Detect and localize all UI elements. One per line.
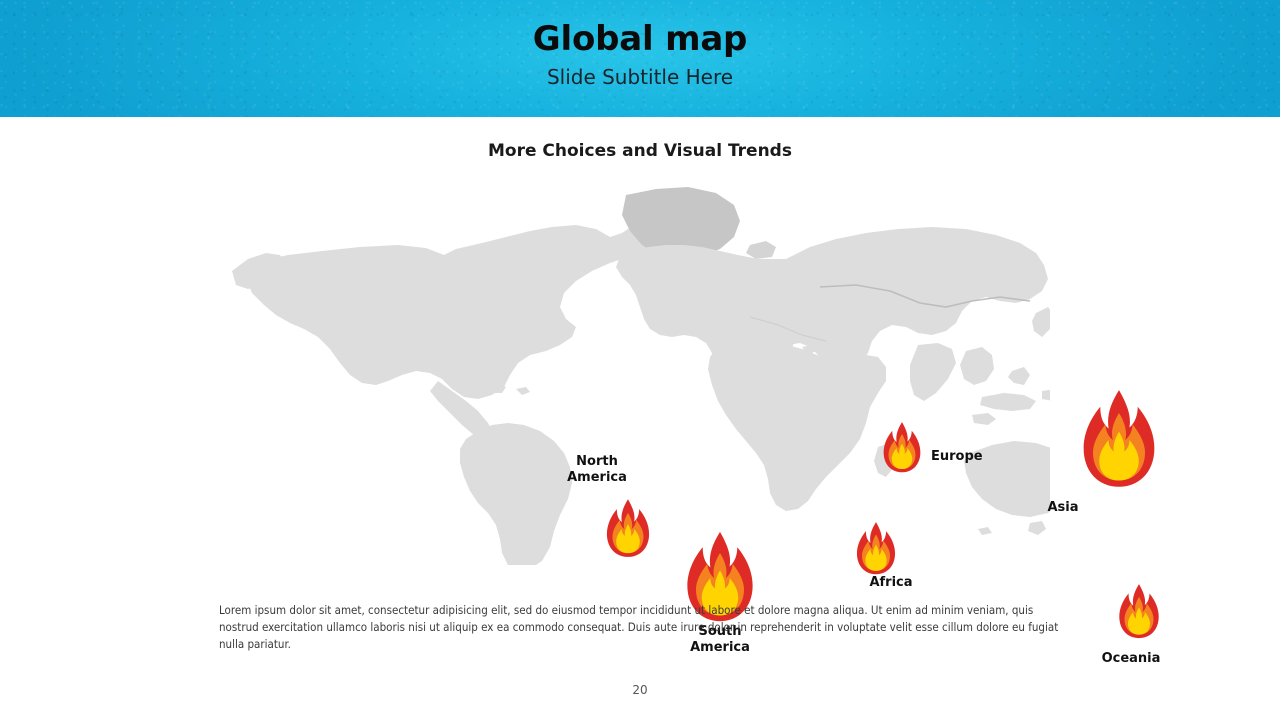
map-marker-africa[interactable] [848, 521, 904, 577]
map-marker-north-america[interactable] [597, 498, 659, 560]
page-subtitle: Slide Subtitle Here [0, 66, 1280, 88]
flame-icon [875, 421, 929, 475]
header-content: Global map Slide Subtitle Here [0, 0, 1280, 88]
flame-icon [597, 498, 659, 560]
map-label-europe: Europe [931, 449, 983, 465]
flame-icon [1067, 388, 1171, 492]
flame-icon [1110, 583, 1168, 641]
map-marker-oceania[interactable] [1110, 583, 1168, 641]
flame-icon [848, 521, 904, 577]
section-heading: More Choices and Visual Trends [0, 141, 1280, 161]
map-marker-europe[interactable] [875, 421, 929, 475]
body-paragraph: Lorem ipsum dolor sit amet, consectetur … [219, 602, 1065, 654]
map-label-africa: Africa [856, 575, 926, 591]
slide-header-banner: Global map Slide Subtitle Here [0, 0, 1280, 117]
page-number: 20 [0, 683, 1280, 697]
map-marker-asia[interactable] [1067, 388, 1171, 492]
page-title: Global map [0, 22, 1280, 58]
map-label-asia: Asia [1033, 500, 1093, 516]
world-map: North America South America Europe Asia [230, 185, 1050, 565]
map-label-north-america: North America [547, 454, 647, 486]
map-label-oceania: Oceania [1091, 651, 1171, 667]
